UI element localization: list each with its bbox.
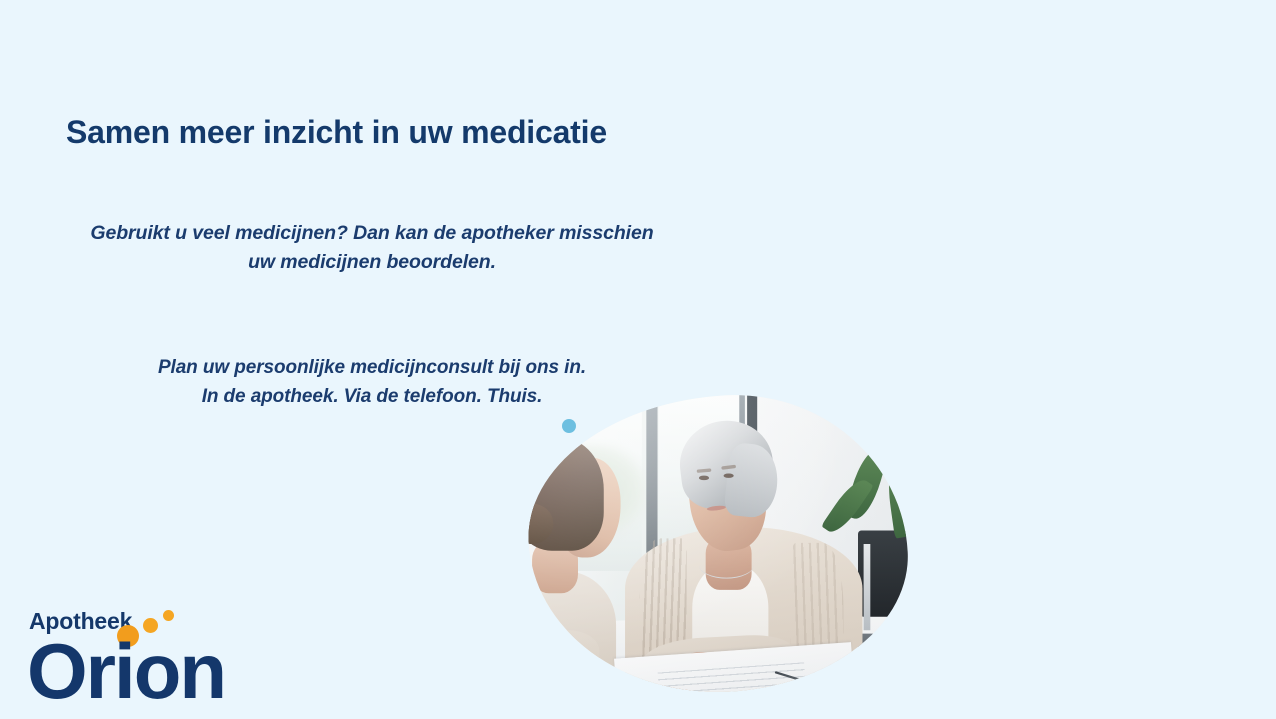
- intro-line-2: uw medicijnen beoordelen.: [20, 248, 724, 277]
- slide-canvas: Samen meer inzicht in uw medicatie Gebru…: [0, 0, 1276, 719]
- consultation-photo: [522, 386, 915, 701]
- logo-dot-small-icon: [163, 610, 174, 621]
- cta-line-1: Plan uw persoonlijke medicijnconsult bij…: [20, 353, 724, 382]
- page-title: Samen meer inzicht in uw medicatie: [66, 114, 607, 151]
- intro-line-1: Gebruikt u veel medicijnen? Dan kan de a…: [20, 219, 724, 248]
- photo-color-grade: [522, 386, 915, 701]
- blue-dot-decoration: [562, 419, 576, 433]
- logo: Apotheek Orion: [27, 604, 242, 709]
- logo-orion-text: Orion: [27, 632, 225, 710]
- intro-paragraph: Gebruikt u veel medicijnen? Dan kan de a…: [20, 219, 724, 277]
- consultation-photo-inner: [522, 386, 915, 701]
- photo-scene: [522, 386, 915, 701]
